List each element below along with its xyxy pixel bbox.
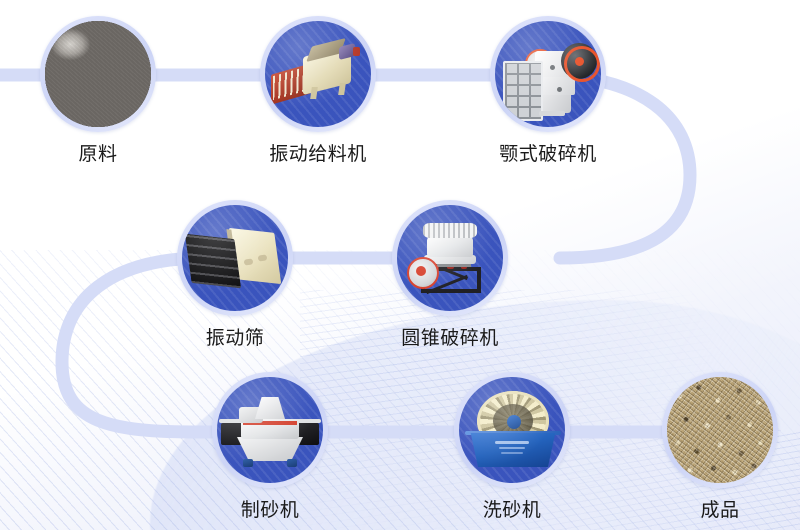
node-label-vibrating-feeder: 振动给料机 <box>258 142 378 166</box>
finished-product-disc <box>662 372 778 488</box>
node-jaw-crusher[interactable]: 颚式破碎机 <box>488 16 608 166</box>
node-vibrating-screen[interactable]: 振动筛 <box>175 200 295 350</box>
crushed-stone-photo <box>45 21 151 127</box>
vibrating-screen-photo <box>182 205 288 311</box>
jaw-crusher-disc <box>490 16 606 132</box>
node-vibrating-feeder[interactable]: 振动给料机 <box>258 16 378 166</box>
node-label-cone-crusher: 圆锥破碎机 <box>390 326 510 350</box>
node-cone-crusher[interactable]: 圆锥破碎机 <box>390 200 510 350</box>
sand-making-machine-photo <box>217 377 323 483</box>
node-finished-product[interactable]: 成品 <box>660 372 780 522</box>
vibrating-feeder-disc <box>260 16 376 132</box>
node-sand-maker[interactable]: 制砂机 <box>210 372 330 522</box>
vibrating-screen-disc <box>177 200 293 316</box>
jaw-crusher-photo <box>495 21 601 127</box>
sand-maker-disc <box>212 372 328 488</box>
node-label-raw-material: 原料 <box>38 142 158 166</box>
node-raw-material[interactable]: 原料 <box>38 16 158 166</box>
node-label-finished-product: 成品 <box>660 498 780 522</box>
node-label-jaw-crusher: 颚式破碎机 <box>488 142 608 166</box>
cone-crusher-disc <box>392 200 508 316</box>
flow-diagram: 原料 振动给料机 <box>0 0 800 530</box>
vibrating-feeder-photo <box>265 21 371 127</box>
finished-sand-photo <box>667 377 773 483</box>
node-label-sand-washer: 洗砂机 <box>452 498 572 522</box>
cone-crusher-photo <box>397 205 503 311</box>
raw-material-disc <box>40 16 156 132</box>
node-label-vibrating-screen: 振动筛 <box>175 326 295 350</box>
node-sand-washer[interactable]: 洗砂机 <box>452 372 572 522</box>
node-label-sand-maker: 制砂机 <box>210 498 330 522</box>
sand-washer-disc <box>454 372 570 488</box>
sand-washing-machine-photo <box>459 377 565 483</box>
